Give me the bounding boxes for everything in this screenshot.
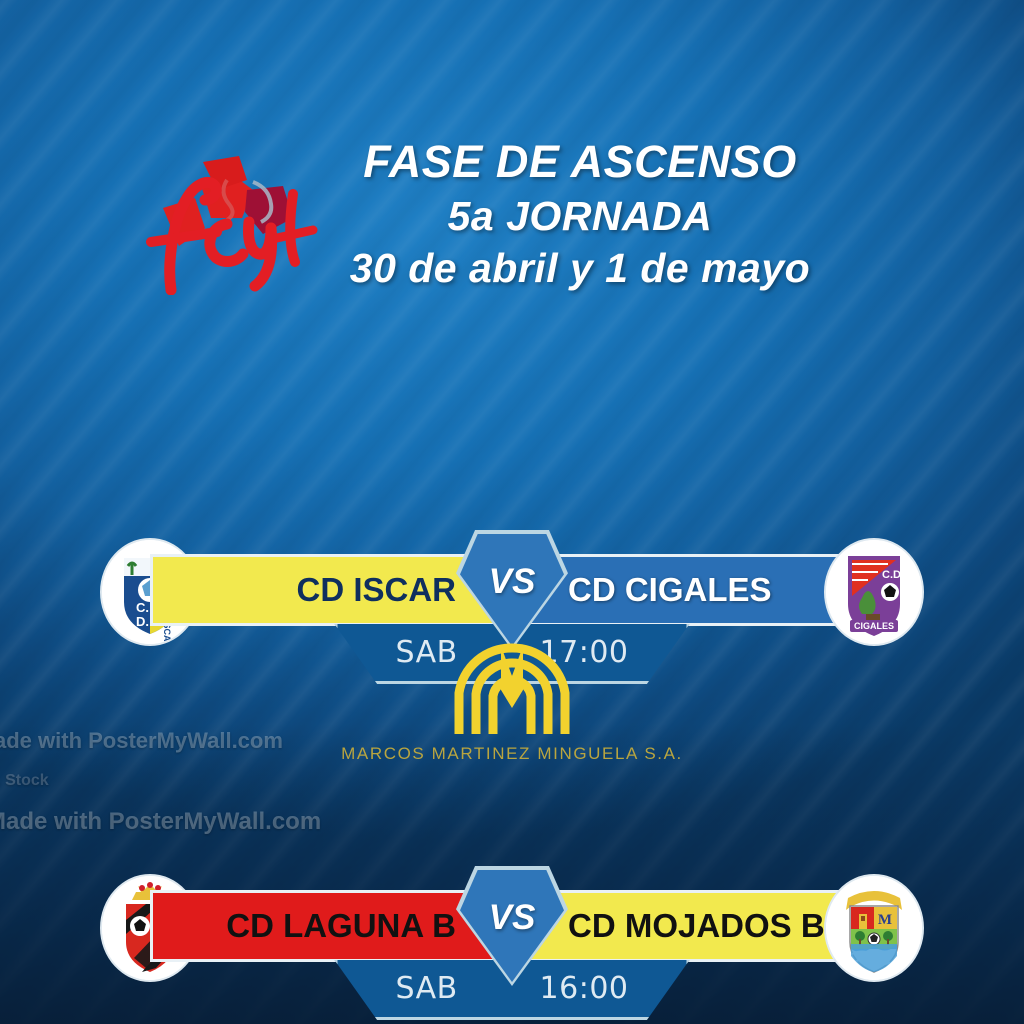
home-team-name: CD ISCAR [296, 571, 456, 609]
match-row: CD LAGUNA B CD MOJADOS B SAB 16:00 VS [0, 866, 1024, 1024]
svg-text:D.: D. [136, 614, 149, 629]
watermark-stock: ar. Stock [0, 772, 1006, 790]
svg-text:C.D.: C.D. [882, 569, 904, 581]
match-time: 16:00 [540, 971, 629, 1006]
cd-mojados-b-crest: M [824, 874, 924, 982]
match-day: SAB [396, 971, 458, 1006]
title-line-1: FASE DE ASCENSO [300, 134, 860, 190]
marcos-martinez-minguela-logo [449, 638, 575, 736]
svg-text:M: M [878, 912, 892, 928]
home-team-bar[interactable]: CD LAGUNA B [150, 890, 512, 962]
away-team-name: CD CIGALES [568, 571, 772, 609]
home-team-bar[interactable]: CD ISCAR [150, 554, 512, 626]
cd-cigales-crest: C.D. CIGALES [824, 538, 924, 646]
away-team-name: CD MOJADOS B [568, 907, 825, 945]
vs-label: VS [489, 898, 536, 938]
vs-label: VS [489, 562, 536, 602]
watermark-postermywall-1: ade with PosterMyWall.com [0, 728, 1018, 754]
watermark-postermywall-2: Made with PosterMyWall.com [0, 808, 1010, 836]
home-team-name: CD LAGUNA B [226, 907, 456, 945]
title-line-2: 5a JORNADA [300, 190, 860, 242]
svg-text:CIGALES: CIGALES [854, 621, 894, 631]
away-team-bar[interactable]: CD MOJADOS B [512, 890, 874, 962]
away-team-bar[interactable]: CD CIGALES [512, 554, 874, 626]
svg-text:C.: C. [136, 600, 149, 615]
poster-canvas: FASE DE ASCENSO 5a JORNADA 30 de abril y… [0, 0, 1024, 1024]
title-line-3: 30 de abril y 1 de mayo [300, 242, 860, 294]
poster-header: FASE DE ASCENSO 5a JORNADA 30 de abril y… [0, 132, 1024, 312]
header-title-block: FASE DE ASCENSO 5a JORNADA 30 de abril y… [300, 134, 860, 294]
fcylf-logo [143, 150, 318, 295]
